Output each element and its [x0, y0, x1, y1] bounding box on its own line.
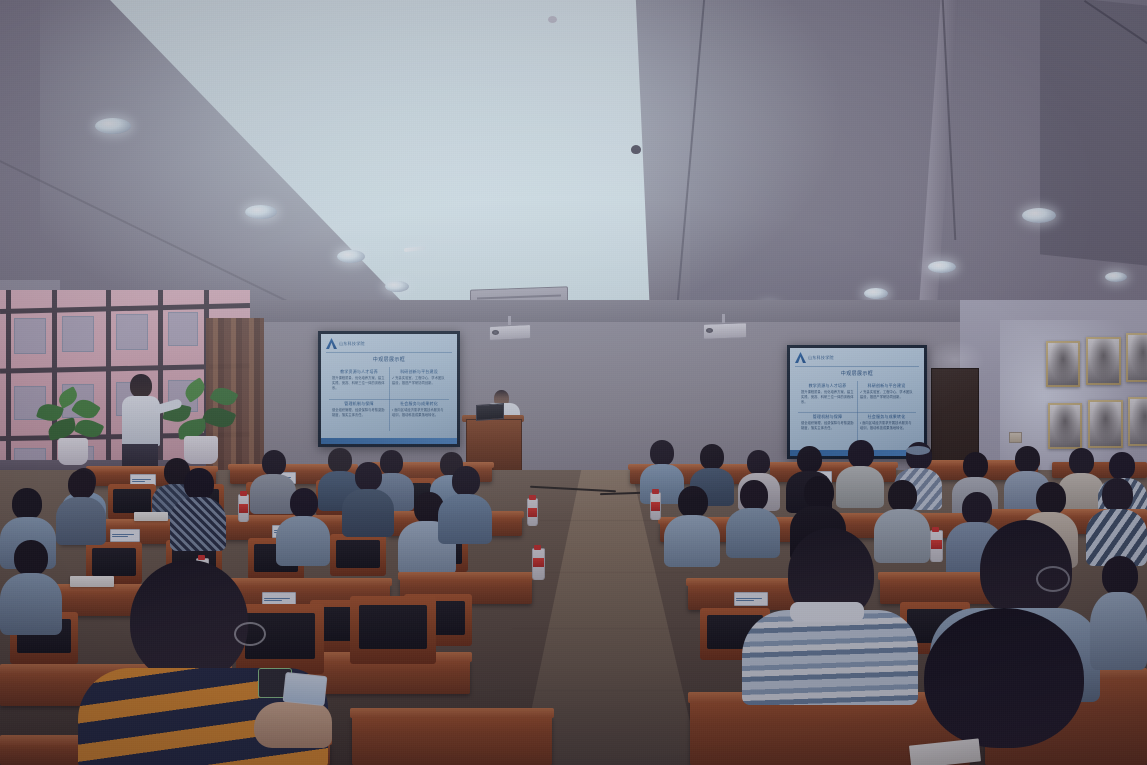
slide-title: 中观层展示框	[321, 356, 457, 363]
slide-logo-text: 山东科技学院	[339, 341, 365, 347]
water-bottle	[527, 498, 538, 526]
slide-quadrant: 教学资源与人才培养 提升课程质量、优化培养方案，建立实践、竞赛、科研三位一体的训…	[329, 367, 389, 399]
audience-member	[170, 468, 226, 548]
framed-portrait	[1088, 400, 1123, 448]
phone-in-hand[interactable]	[283, 672, 328, 706]
left-slide: 山东科技学院 中观层展示框 教学资源与人才培养 提升课程质量、优化培养方案，建立…	[321, 334, 457, 444]
audience-member-striped-shirt	[742, 528, 918, 703]
outside-building-window	[62, 316, 94, 352]
slide-quadrant: 社会服务与成果转化 • 面向区域经济需求开展技术服务与培训，推动科技成果落地转化…	[389, 399, 449, 431]
chair	[350, 596, 436, 664]
downlight-7	[1022, 208, 1056, 223]
slide-quadrant: 科研创新与平台建设 ✓ 完善实验室、工程中心、学术团队建设，推进产学研协同创新。	[389, 367, 449, 399]
audience-member	[1090, 556, 1147, 666]
framed-portrait	[1048, 403, 1082, 449]
eyeglasses-icon	[1036, 566, 1070, 592]
foreground-attendee-striped-polo	[58, 560, 348, 765]
framed-portrait	[1126, 333, 1147, 382]
audience-member	[438, 466, 492, 540]
foreground-attendee-arm	[254, 702, 332, 748]
downlight-2	[245, 205, 277, 219]
desk	[352, 716, 552, 765]
lecture-hall-photo: 山东科技学院 中观层展示框 教学资源与人才培养 提升课程质量、优化培养方案，建立…	[0, 0, 1147, 765]
seat-label	[110, 529, 140, 542]
institution-logo-icon	[795, 352, 806, 363]
framed-portrait	[1128, 397, 1147, 446]
outside-building-window	[168, 312, 198, 346]
eyeglasses-icon	[234, 622, 266, 646]
paper-on-desk	[134, 512, 168, 521]
audience-member	[664, 486, 720, 564]
desk-surface	[350, 708, 554, 718]
foreground-attendee-head	[130, 560, 248, 682]
downlight-9	[864, 288, 888, 299]
water-bottle	[532, 548, 545, 580]
water-bottle	[650, 492, 661, 520]
audience-member	[56, 470, 106, 542]
left-projection-screen: 山东科技学院 中观层展示框 教学资源与人才培养 提升课程质量、优化培养方案，建立…	[318, 331, 460, 447]
slide-title: 中观层展示框	[790, 370, 924, 377]
slide-quadrant: 科研创新与平台建设 ✓ 完善实验室、工程中心、学术团队建设，推进产学研协同创新。	[857, 381, 916, 412]
potted-plant-right	[160, 382, 246, 468]
presenter-laptop	[476, 403, 504, 421]
foreground-attendee-dark-hair	[900, 608, 1115, 765]
slide-footer-band	[321, 438, 457, 444]
downlight-1	[95, 118, 131, 134]
front-wall-upper-band	[230, 300, 1020, 322]
window-mullion	[6, 290, 11, 485]
downlight-8	[928, 261, 956, 273]
slide-logo: 山东科技学院	[795, 352, 834, 363]
projector-lens	[492, 330, 499, 335]
projector-lens	[706, 328, 713, 333]
slide-quadrant: 管理机制与保障 健全组织管理、经费保障与考核激励制度，落实主体责任。	[329, 399, 389, 431]
downlight-3	[337, 250, 365, 263]
audience-member	[276, 488, 330, 562]
downlight-12	[1105, 272, 1127, 282]
audience-member	[342, 462, 394, 534]
slide-logo: 山东科技学院	[326, 338, 365, 349]
institution-logo-icon	[326, 338, 337, 349]
downlight-4	[385, 281, 409, 292]
framed-portrait	[1046, 341, 1080, 387]
outside-building-window	[116, 314, 148, 350]
framed-portrait	[1086, 337, 1121, 385]
outside-building-window	[14, 318, 46, 354]
audience-member	[0, 540, 62, 632]
projector-mount-arm	[722, 314, 725, 323]
slide-quadrant: 教学资源与人才培养 提升课程质量、优化培养方案，建立实践、竞赛、科研三位一体的训…	[798, 381, 857, 412]
desk-surface	[398, 572, 534, 580]
water-bottle	[238, 494, 249, 522]
potted-plant-left	[36, 390, 112, 468]
ceiling-sensor-icon	[548, 16, 557, 23]
smoke-detector-icon	[631, 145, 641, 154]
light-switch[interactable]	[1009, 432, 1022, 443]
projector-mount-arm	[508, 316, 511, 325]
slide-logo-text: 山东科技学院	[808, 355, 834, 361]
ceiling-far-right-panel	[1040, 0, 1147, 266]
slide-quadrant: 管理机制与保障 健全组织管理、经费保障与考核激励制度，落实主体责任。	[798, 412, 857, 443]
slide-quadrant: 社会服务与成果转化 • 面向区域经济需求开展技术服务与培训，推动科技成果落地转化…	[857, 412, 916, 443]
